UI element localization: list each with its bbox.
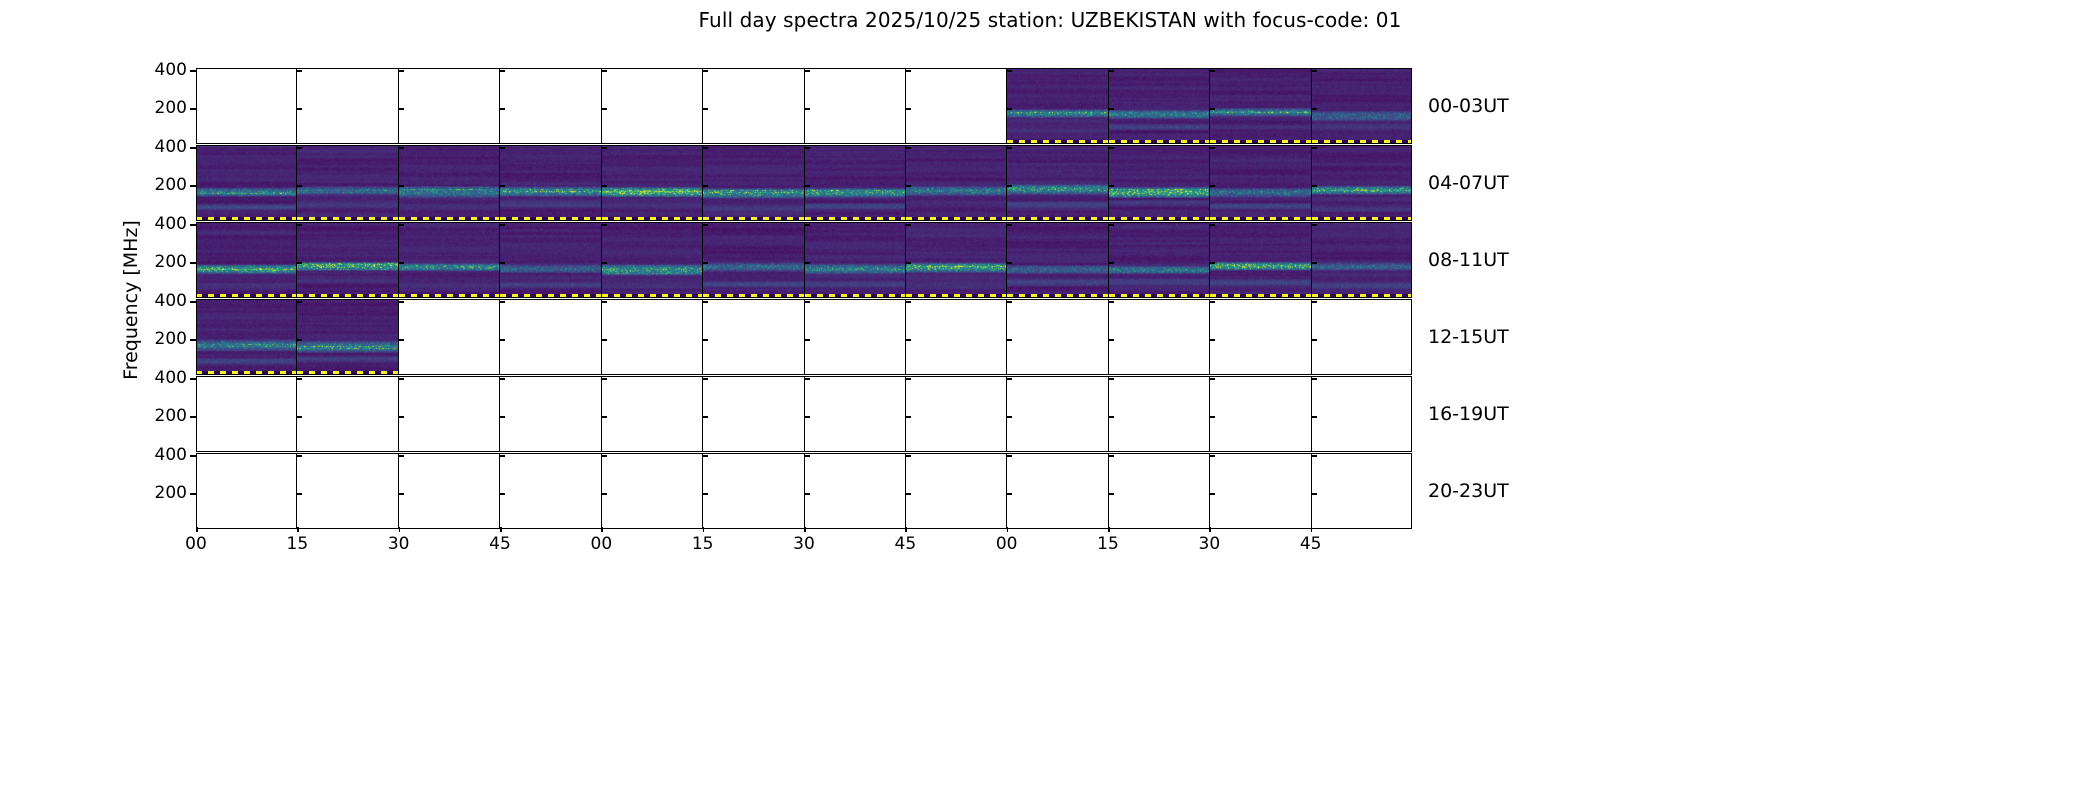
x-axis-tick bbox=[399, 527, 401, 532]
spectrogram-canvas bbox=[1007, 68, 1107, 144]
data-marker-strip bbox=[703, 217, 803, 221]
inner-y-tick bbox=[602, 339, 607, 341]
x-axis-tick bbox=[804, 527, 806, 532]
spectrogram-cell bbox=[398, 453, 499, 529]
inner-y-tick bbox=[1007, 70, 1012, 72]
inner-y-tick bbox=[1210, 416, 1215, 418]
inner-y-tick bbox=[297, 108, 302, 110]
spectrogram-cell bbox=[296, 145, 397, 221]
inner-y-tick bbox=[297, 224, 302, 226]
spectrogram-canvas bbox=[1109, 222, 1209, 298]
inner-y-tick bbox=[399, 493, 404, 495]
inner-y-tick bbox=[906, 224, 911, 226]
data-marker-strip bbox=[1109, 294, 1209, 298]
data-marker-strip bbox=[1007, 140, 1107, 144]
spectrogram-canvas bbox=[805, 222, 905, 298]
data-marker-strip bbox=[196, 294, 296, 298]
data-marker-strip bbox=[1210, 140, 1310, 144]
inner-y-tick bbox=[805, 224, 810, 226]
data-marker-strip bbox=[1312, 294, 1412, 298]
x-axis-tick bbox=[196, 527, 198, 532]
inner-y-tick bbox=[703, 262, 708, 264]
inner-y-tick bbox=[399, 224, 404, 226]
spectrogram-cell bbox=[1311, 376, 1412, 452]
inner-y-tick bbox=[1109, 416, 1114, 418]
inner-y-tick bbox=[297, 185, 302, 187]
spectrogram-cell bbox=[702, 68, 803, 144]
inner-y-tick bbox=[1210, 185, 1215, 187]
spectrogram-cell bbox=[499, 299, 600, 375]
spectrogram-canvas bbox=[1312, 222, 1412, 298]
inner-y-tick bbox=[1312, 493, 1317, 495]
spectrogram-cell bbox=[196, 68, 296, 144]
inner-y-tick bbox=[805, 455, 810, 457]
inner-y-tick bbox=[297, 339, 302, 341]
inner-y-tick bbox=[1312, 70, 1317, 72]
inner-y-tick bbox=[500, 378, 505, 380]
spectrogram-cell bbox=[1108, 453, 1209, 529]
y-axis-tick-label: 400 bbox=[155, 137, 187, 157]
spectrogram-cell bbox=[804, 299, 905, 375]
inner-y-tick bbox=[297, 147, 302, 149]
spectrogram-canvas bbox=[196, 299, 296, 375]
inner-y-tick bbox=[1312, 262, 1317, 264]
inner-y-tick bbox=[399, 339, 404, 341]
spectrogram-canvas bbox=[703, 222, 803, 298]
x-axis-tick-label: 00 bbox=[185, 534, 207, 554]
inner-y-tick bbox=[399, 108, 404, 110]
spectrogram-figure: Full day spectra 2025/10/25 station: UZB… bbox=[0, 0, 2100, 800]
data-marker-strip bbox=[399, 217, 499, 221]
inner-y-tick bbox=[805, 262, 810, 264]
data-marker-strip bbox=[297, 294, 397, 298]
inner-y-tick bbox=[399, 262, 404, 264]
inner-y-tick bbox=[805, 339, 810, 341]
spectrogram-cell bbox=[1006, 376, 1107, 452]
x-axis-tick bbox=[1007, 527, 1009, 532]
spectrogram-cell bbox=[804, 145, 905, 221]
inner-y-tick bbox=[906, 108, 911, 110]
inner-y-tick bbox=[805, 147, 810, 149]
spectrogram-canvas bbox=[703, 145, 803, 221]
spectrogram-canvas bbox=[1312, 145, 1412, 221]
spectrogram-canvas bbox=[500, 145, 600, 221]
spectrogram-cell bbox=[905, 222, 1006, 298]
spectrogram-cell bbox=[1311, 68, 1412, 144]
data-marker-strip bbox=[1007, 294, 1107, 298]
inner-y-tick bbox=[906, 339, 911, 341]
spectrogram-cell bbox=[1108, 222, 1209, 298]
inner-y-tick bbox=[906, 301, 911, 303]
spectrogram-canvas bbox=[602, 145, 702, 221]
inner-y-tick bbox=[703, 108, 708, 110]
inner-y-tick bbox=[1109, 339, 1114, 341]
inner-y-tick bbox=[602, 224, 607, 226]
spectrogram-canvas bbox=[297, 222, 397, 298]
inner-y-tick bbox=[805, 416, 810, 418]
x-axis-tick bbox=[500, 527, 502, 532]
spectrogram-cell bbox=[905, 145, 1006, 221]
spectrogram-cell bbox=[1209, 145, 1310, 221]
spectrogram-cell bbox=[196, 376, 296, 452]
inner-y-tick bbox=[500, 147, 505, 149]
spectrogram-cell bbox=[1108, 299, 1209, 375]
y-axis-tick-label: 400 bbox=[155, 291, 187, 311]
inner-y-tick bbox=[805, 301, 810, 303]
data-marker-strip bbox=[805, 294, 905, 298]
inner-y-tick bbox=[297, 301, 302, 303]
row-cells bbox=[196, 453, 1412, 529]
spectrogram-canvas bbox=[1312, 68, 1412, 144]
spectrogram-cell bbox=[601, 376, 702, 452]
inner-y-tick bbox=[1210, 339, 1215, 341]
inner-y-tick bbox=[500, 70, 505, 72]
data-marker-strip bbox=[1109, 140, 1209, 144]
x-axis-tick bbox=[1108, 527, 1110, 532]
inner-y-tick bbox=[297, 378, 302, 380]
spectrogram-cell bbox=[296, 453, 397, 529]
y-axis-tick bbox=[190, 262, 196, 264]
x-axis-tick-label: 30 bbox=[793, 534, 815, 554]
spectrogram-canvas bbox=[1210, 68, 1310, 144]
y-axis-tick bbox=[190, 147, 196, 149]
inner-y-tick bbox=[500, 108, 505, 110]
spectrogram-cell bbox=[1209, 299, 1310, 375]
spectrogram-cell bbox=[296, 299, 397, 375]
data-marker-strip bbox=[906, 217, 1006, 221]
spectrogram-cell bbox=[196, 222, 296, 298]
inner-y-tick bbox=[399, 301, 404, 303]
spectrogram-cell bbox=[1311, 145, 1412, 221]
inner-y-tick bbox=[1007, 224, 1012, 226]
spectrogram-canvas bbox=[297, 145, 397, 221]
spectrogram-cell bbox=[804, 376, 905, 452]
data-marker-strip bbox=[703, 294, 803, 298]
inner-y-tick bbox=[703, 70, 708, 72]
row-time-label: 12-15UT bbox=[1428, 326, 1509, 348]
spectrogram-cell bbox=[398, 145, 499, 221]
data-marker-strip bbox=[196, 217, 296, 221]
spectrogram-row: 40020012-15UT bbox=[196, 299, 1412, 375]
spectrogram-cell bbox=[1108, 68, 1209, 144]
inner-y-tick bbox=[1109, 378, 1114, 380]
inner-y-tick bbox=[297, 493, 302, 495]
inner-y-tick bbox=[399, 378, 404, 380]
inner-y-tick bbox=[500, 339, 505, 341]
spectrogram-canvas bbox=[805, 145, 905, 221]
inner-y-tick bbox=[602, 108, 607, 110]
inner-y-tick bbox=[703, 339, 708, 341]
spectrogram-cell bbox=[804, 453, 905, 529]
y-axis-tick-label: 200 bbox=[155, 175, 187, 195]
inner-y-tick bbox=[1312, 185, 1317, 187]
inner-y-tick bbox=[1312, 455, 1317, 457]
spectrogram-cell bbox=[499, 145, 600, 221]
inner-y-tick bbox=[703, 455, 708, 457]
spectrogram-cell bbox=[601, 299, 702, 375]
spectrogram-cell bbox=[1006, 299, 1107, 375]
spectrogram-canvas bbox=[1210, 222, 1310, 298]
spectrogram-cell bbox=[702, 299, 803, 375]
inner-y-tick bbox=[1210, 70, 1215, 72]
y-axis-tick-label: 400 bbox=[155, 214, 187, 234]
inner-y-tick bbox=[500, 416, 505, 418]
inner-y-tick bbox=[1007, 416, 1012, 418]
spectrogram-cell bbox=[601, 68, 702, 144]
x-axis-tick bbox=[1209, 527, 1211, 532]
x-axis-tick-label: 00 bbox=[591, 534, 613, 554]
spectrogram-cell bbox=[196, 145, 296, 221]
inner-y-tick bbox=[500, 455, 505, 457]
inner-y-tick bbox=[703, 301, 708, 303]
spectrogram-canvas bbox=[399, 222, 499, 298]
inner-y-tick bbox=[1007, 378, 1012, 380]
inner-y-tick bbox=[602, 301, 607, 303]
row-time-label: 16-19UT bbox=[1428, 403, 1509, 425]
inner-y-tick bbox=[399, 147, 404, 149]
inner-y-tick bbox=[906, 262, 911, 264]
x-axis-tick-label: 45 bbox=[1300, 534, 1322, 554]
inner-y-tick bbox=[1210, 378, 1215, 380]
inner-y-tick bbox=[1210, 493, 1215, 495]
x-axis-tick-label: 15 bbox=[692, 534, 714, 554]
y-axis-label: Frequency [MHz] bbox=[120, 220, 142, 380]
spectrogram-cell bbox=[804, 222, 905, 298]
spectrogram-cell bbox=[804, 68, 905, 144]
spectrogram-cell bbox=[702, 222, 803, 298]
inner-y-tick bbox=[500, 262, 505, 264]
data-marker-strip bbox=[1210, 217, 1310, 221]
data-marker-strip bbox=[500, 217, 600, 221]
spectrogram-cell bbox=[1209, 453, 1310, 529]
data-marker-strip bbox=[1312, 140, 1412, 144]
inner-y-tick bbox=[1007, 301, 1012, 303]
inner-y-tick bbox=[906, 70, 911, 72]
inner-y-tick bbox=[1109, 147, 1114, 149]
spectrogram-cell bbox=[398, 299, 499, 375]
inner-y-tick bbox=[1109, 185, 1114, 187]
inner-y-tick bbox=[1109, 301, 1114, 303]
y-axis-tick-label: 400 bbox=[155, 60, 187, 80]
spectrogram-cell bbox=[905, 376, 1006, 452]
spectrogram-cell bbox=[196, 299, 296, 375]
inner-y-tick bbox=[906, 455, 911, 457]
row-time-label: 08-11UT bbox=[1428, 249, 1509, 271]
spectrogram-canvas bbox=[1007, 145, 1107, 221]
spectrogram-cell bbox=[398, 222, 499, 298]
data-marker-strip bbox=[1109, 217, 1209, 221]
inner-y-tick bbox=[805, 70, 810, 72]
data-marker-strip bbox=[805, 217, 905, 221]
spectrogram-row: 40020000-03UT bbox=[196, 68, 1412, 144]
inner-y-tick bbox=[805, 108, 810, 110]
page-title: Full day spectra 2025/10/25 station: UZB… bbox=[0, 8, 2100, 32]
data-marker-strip bbox=[1312, 217, 1412, 221]
x-axis-tick-label: 45 bbox=[895, 534, 917, 554]
inner-y-tick bbox=[1210, 224, 1215, 226]
spectrogram-canvas bbox=[906, 145, 1006, 221]
inner-y-tick bbox=[1312, 108, 1317, 110]
row-cells bbox=[196, 68, 1412, 144]
inner-y-tick bbox=[1007, 493, 1012, 495]
spectrogram-cell bbox=[702, 453, 803, 529]
x-axis-ticks: 001530450015304500153045 bbox=[196, 527, 1412, 551]
x-axis-tick-label: 00 bbox=[996, 534, 1018, 554]
inner-y-tick bbox=[399, 70, 404, 72]
inner-y-tick bbox=[1109, 455, 1114, 457]
inner-y-tick bbox=[399, 185, 404, 187]
data-marker-strip bbox=[1007, 217, 1107, 221]
inner-y-tick bbox=[297, 416, 302, 418]
y-axis-tick bbox=[190, 378, 196, 380]
inner-y-tick bbox=[1109, 262, 1114, 264]
inner-y-tick bbox=[1007, 108, 1012, 110]
inner-y-tick bbox=[1312, 339, 1317, 341]
spectrogram-cell bbox=[1311, 222, 1412, 298]
x-axis-tick-label: 30 bbox=[388, 534, 410, 554]
spectrogram-cell bbox=[1311, 299, 1412, 375]
data-marker-strip bbox=[1210, 294, 1310, 298]
x-axis-tick-label: 15 bbox=[1097, 534, 1119, 554]
row-cells bbox=[196, 145, 1412, 221]
inner-y-tick bbox=[906, 416, 911, 418]
inner-y-tick bbox=[805, 378, 810, 380]
inner-y-tick bbox=[1312, 378, 1317, 380]
inner-y-tick bbox=[602, 416, 607, 418]
inner-y-tick bbox=[703, 493, 708, 495]
spectrogram-cell bbox=[905, 453, 1006, 529]
inner-y-tick bbox=[906, 147, 911, 149]
x-axis-tick bbox=[905, 527, 907, 532]
spectrogram-cell bbox=[499, 453, 600, 529]
spectrogram-cell bbox=[905, 299, 1006, 375]
x-axis-tick bbox=[1311, 527, 1313, 532]
y-axis-tick bbox=[190, 416, 196, 418]
y-axis-tick-label: 200 bbox=[155, 252, 187, 272]
inner-y-tick bbox=[602, 185, 607, 187]
x-axis-tick bbox=[297, 527, 299, 532]
inner-y-tick bbox=[1210, 147, 1215, 149]
row-cells bbox=[196, 222, 1412, 298]
spectrogram-canvas bbox=[602, 222, 702, 298]
inner-y-tick bbox=[805, 493, 810, 495]
y-axis-tick-label: 200 bbox=[155, 483, 187, 503]
inner-y-tick bbox=[703, 185, 708, 187]
row-cells bbox=[196, 376, 1412, 452]
inner-y-tick bbox=[297, 262, 302, 264]
row-time-label: 00-03UT bbox=[1428, 95, 1509, 117]
data-marker-strip bbox=[297, 217, 397, 221]
inner-y-tick bbox=[602, 147, 607, 149]
inner-y-tick bbox=[703, 378, 708, 380]
inner-y-tick bbox=[906, 493, 911, 495]
inner-y-tick bbox=[297, 455, 302, 457]
y-axis-tick-label: 400 bbox=[155, 445, 187, 465]
row-time-label: 04-07UT bbox=[1428, 172, 1509, 194]
inner-y-tick bbox=[1109, 70, 1114, 72]
inner-y-tick bbox=[1109, 493, 1114, 495]
inner-y-tick bbox=[703, 147, 708, 149]
spectrogram-canvas bbox=[196, 145, 296, 221]
spectrogram-cell bbox=[499, 376, 600, 452]
data-marker-strip bbox=[500, 294, 600, 298]
spectrogram-canvas bbox=[1109, 145, 1209, 221]
spectrogram-canvas bbox=[399, 145, 499, 221]
spectrogram-cell bbox=[296, 222, 397, 298]
x-axis-tick bbox=[601, 527, 603, 532]
inner-y-tick bbox=[1109, 224, 1114, 226]
inner-y-tick bbox=[906, 185, 911, 187]
spectrogram-cell bbox=[601, 453, 702, 529]
inner-y-tick bbox=[399, 455, 404, 457]
spectrogram-cell bbox=[1209, 222, 1310, 298]
spectrogram-cell bbox=[296, 68, 397, 144]
data-marker-strip bbox=[602, 294, 702, 298]
inner-y-tick bbox=[602, 455, 607, 457]
spectrogram-row: 40020008-11UT bbox=[196, 222, 1412, 298]
inner-y-tick bbox=[602, 262, 607, 264]
spectrogram-canvas bbox=[1210, 145, 1310, 221]
inner-y-tick bbox=[906, 378, 911, 380]
spectrogram-cell bbox=[1006, 145, 1107, 221]
inner-y-tick bbox=[1109, 108, 1114, 110]
inner-y-tick bbox=[1007, 262, 1012, 264]
data-marker-strip bbox=[196, 371, 296, 375]
row-cells bbox=[196, 299, 1412, 375]
y-axis-tick bbox=[190, 339, 196, 341]
spectrogram-cell bbox=[601, 222, 702, 298]
data-marker-strip bbox=[906, 294, 1006, 298]
y-axis-tick bbox=[190, 70, 196, 72]
spectrogram-cell bbox=[499, 222, 600, 298]
data-marker-strip bbox=[297, 371, 397, 375]
y-axis-tick-label: 200 bbox=[155, 406, 187, 426]
spectrogram-cell bbox=[1006, 68, 1107, 144]
spectrogram-cell bbox=[1108, 376, 1209, 452]
inner-y-tick bbox=[1312, 224, 1317, 226]
spectrogram-cell bbox=[296, 376, 397, 452]
spectrogram-canvas bbox=[500, 222, 600, 298]
y-axis-tick bbox=[190, 224, 196, 226]
inner-y-tick bbox=[1007, 185, 1012, 187]
inner-y-tick bbox=[1210, 262, 1215, 264]
spectrogram-cell bbox=[1006, 222, 1107, 298]
y-axis-tick-label: 200 bbox=[155, 329, 187, 349]
row-time-label: 20-23UT bbox=[1428, 480, 1509, 502]
spectrogram-cell bbox=[196, 453, 296, 529]
spectrogram-canvas bbox=[297, 299, 397, 375]
inner-y-tick bbox=[1312, 147, 1317, 149]
x-axis-tick bbox=[703, 527, 705, 532]
inner-y-tick bbox=[703, 224, 708, 226]
inner-y-tick bbox=[1312, 301, 1317, 303]
spectrogram-canvas bbox=[196, 222, 296, 298]
y-axis-tick-label: 400 bbox=[155, 368, 187, 388]
spectrogram-cell bbox=[1108, 145, 1209, 221]
spectrogram-cell bbox=[1209, 68, 1310, 144]
inner-y-tick bbox=[1007, 147, 1012, 149]
inner-y-tick bbox=[1007, 455, 1012, 457]
inner-y-tick bbox=[500, 224, 505, 226]
spectrogram-cell bbox=[702, 376, 803, 452]
inner-y-tick bbox=[1312, 416, 1317, 418]
spectrogram-row: 40020020-23UT bbox=[196, 453, 1412, 529]
inner-y-tick bbox=[1210, 455, 1215, 457]
spectrogram-canvas bbox=[906, 222, 1006, 298]
inner-y-tick bbox=[500, 493, 505, 495]
data-marker-strip bbox=[399, 294, 499, 298]
x-axis-tick-label: 15 bbox=[287, 534, 309, 554]
